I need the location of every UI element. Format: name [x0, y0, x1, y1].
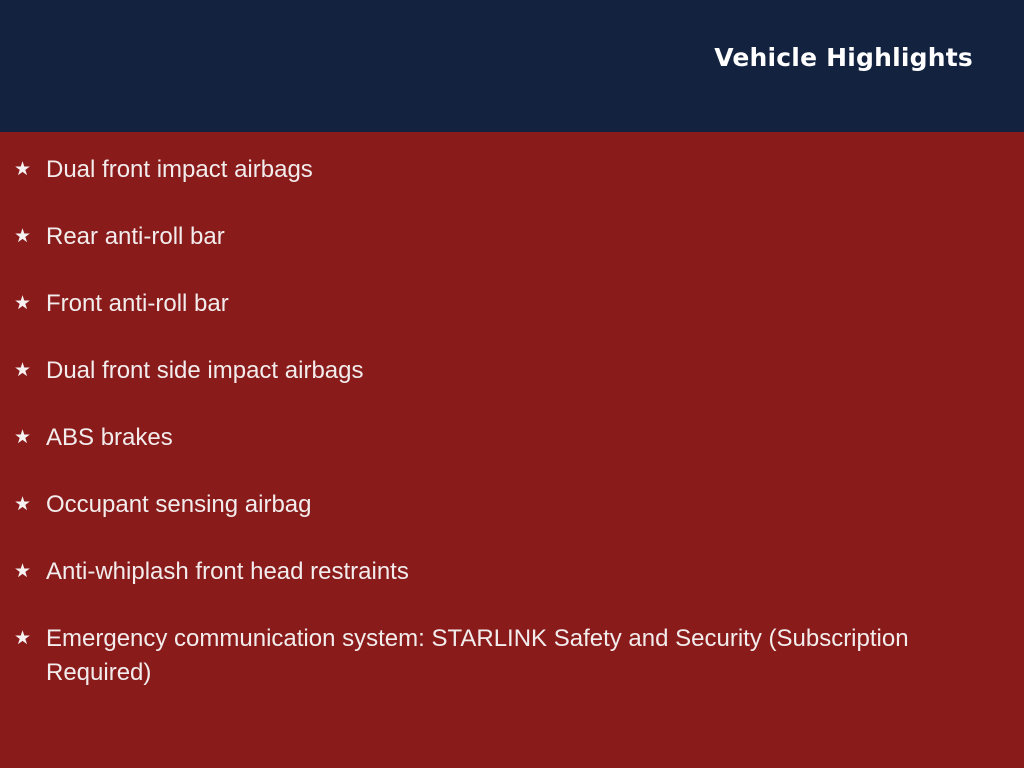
highlight-label: Emergency communication system: STARLINK…: [46, 622, 964, 690]
list-item: ★ Rear anti-roll bar: [14, 220, 964, 254]
star-bullet-icon: ★: [14, 287, 46, 321]
list-item: ★ ABS brakes: [14, 421, 964, 455]
page-title: Vehicle Highlights: [714, 44, 973, 72]
slide-header: Vehicle Highlights: [0, 0, 1024, 132]
highlight-label: Rear anti-roll bar: [46, 220, 964, 254]
list-item: ★ Anti-whiplash front head restraints: [14, 555, 964, 589]
highlight-label: Occupant sensing airbag: [46, 488, 964, 522]
list-item: ★ Emergency communication system: STARLI…: [14, 622, 964, 690]
highlight-label: ABS brakes: [46, 421, 964, 455]
highlight-label: Anti-whiplash front head restraints: [46, 555, 964, 589]
star-bullet-icon: ★: [14, 153, 46, 187]
star-bullet-icon: ★: [14, 555, 46, 589]
list-item: ★ Dual front impact airbags: [14, 153, 964, 187]
star-bullet-icon: ★: [14, 354, 46, 388]
star-bullet-icon: ★: [14, 220, 46, 254]
star-bullet-icon: ★: [14, 421, 46, 455]
star-bullet-icon: ★: [14, 488, 46, 522]
highlight-label: Front anti-roll bar: [46, 287, 964, 321]
list-item: ★ Front anti-roll bar: [14, 287, 964, 321]
list-item: ★ Occupant sensing airbag: [14, 488, 964, 522]
highlight-label: Dual front impact airbags: [46, 153, 964, 187]
vehicle-highlights-list: ★ Dual front impact airbags ★ Rear anti-…: [14, 153, 964, 690]
list-item: ★ Dual front side impact airbags: [14, 354, 964, 388]
star-bullet-icon: ★: [14, 622, 46, 656]
vehicle-highlights-slide: Vehicle Highlights ★ Dual front impact a…: [0, 0, 1024, 768]
highlight-label: Dual front side impact airbags: [46, 354, 964, 388]
slide-body: ★ Dual front impact airbags ★ Rear anti-…: [0, 132, 1024, 768]
